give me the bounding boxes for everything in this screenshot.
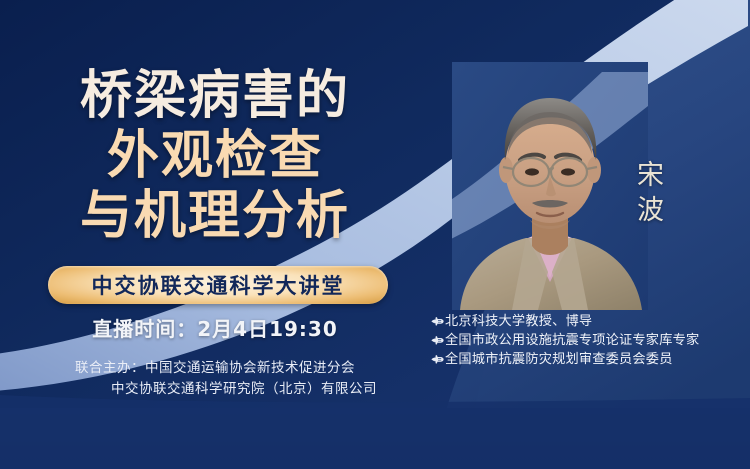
poster-title: 桥梁病害的 外观检查 与机理分析 (0, 66, 430, 246)
pointing-hand-icon (430, 315, 444, 329)
credential-text: 全国市政公用设施抗震专项论证专家库专家 (445, 331, 699, 350)
credential-text: 北京科技大学教授、博导 (445, 312, 592, 331)
speaker-name: 宋 波 (631, 158, 671, 228)
organizer-line-1: 联合主办：中国交通运输协会新技术促进分会 (0, 358, 430, 379)
speaker-portrait (452, 62, 648, 310)
speaker-name-char-1: 宋 (631, 158, 671, 193)
pointing-hand-icon (430, 353, 444, 367)
credential-row: 全国城市抗震防灾规划审查委员会委员 (430, 350, 750, 369)
series-badge-label: 中交协联交通科学大讲堂 (92, 270, 345, 300)
credential-row: 全国市政公用设施抗震专项论证专家库专家 (430, 331, 750, 350)
credential-row: 北京科技大学教授、博导 (430, 312, 750, 331)
bottom-strip-blend (0, 395, 750, 469)
credential-text: 全国城市抗震防灾规划审查委员会委员 (445, 350, 673, 369)
title-line-1: 桥梁病害的 (0, 66, 430, 126)
organizers-block: 联合主办：中国交通运输协会新技术促进分会 中交协联交通科学研究院（北京）有限公司 (0, 358, 430, 400)
series-badge: 中交协联交通科学大讲堂 (48, 266, 388, 304)
speaker-credentials: 北京科技大学教授、博导 全国市政公用设施抗震专项论证专家库专家 全国城市抗震防灾… (430, 312, 750, 369)
live-time: 直播时间：2月4日19:30 (0, 313, 430, 342)
speaker-portrait-illustration (452, 62, 648, 310)
pointing-hand-icon (430, 334, 444, 348)
title-line-2: 外观检查 (0, 126, 430, 186)
organizer-line-2: 中交协联交通科学研究院（北京）有限公司 (0, 379, 430, 400)
webinar-poster: 桥梁病害的 外观检查 与机理分析 中交协联交通科学大讲堂 直播时间：2月4日19… (0, 0, 750, 469)
speaker-name-char-2: 波 (631, 193, 671, 228)
title-line-3: 与机理分析 (0, 186, 430, 246)
